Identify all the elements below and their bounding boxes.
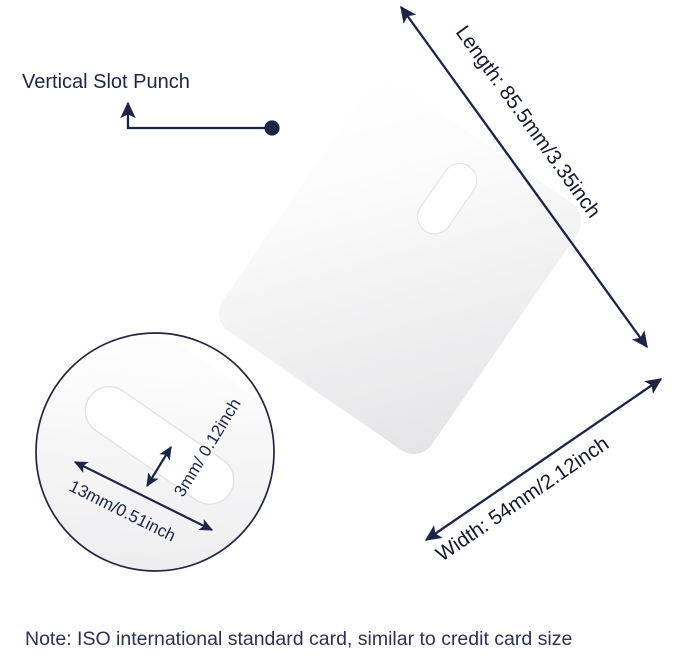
width-dimension-arrow — [426, 379, 661, 540]
card-dimension-illustration: Vertical Slot Punch Length: 85.5mm/3.35i… — [0, 0, 679, 656]
width-dimension: Width: 54mm/2.12inch — [426, 379, 661, 566]
slot-punch-dot-icon — [264, 120, 279, 135]
callout-leader-line — [128, 103, 272, 128]
note-text: Note: ISO international standard card, s… — [25, 628, 572, 650]
callout-label: Vertical Slot Punch — [22, 71, 190, 93]
width-dimension-label: Width: 54mm/2.12inch — [432, 432, 613, 566]
diagram-canvas: Vertical Slot Punch Length: 85.5mm/3.35i… — [0, 0, 679, 656]
vertical-slot-punch-callout: Vertical Slot Punch — [22, 71, 280, 136]
